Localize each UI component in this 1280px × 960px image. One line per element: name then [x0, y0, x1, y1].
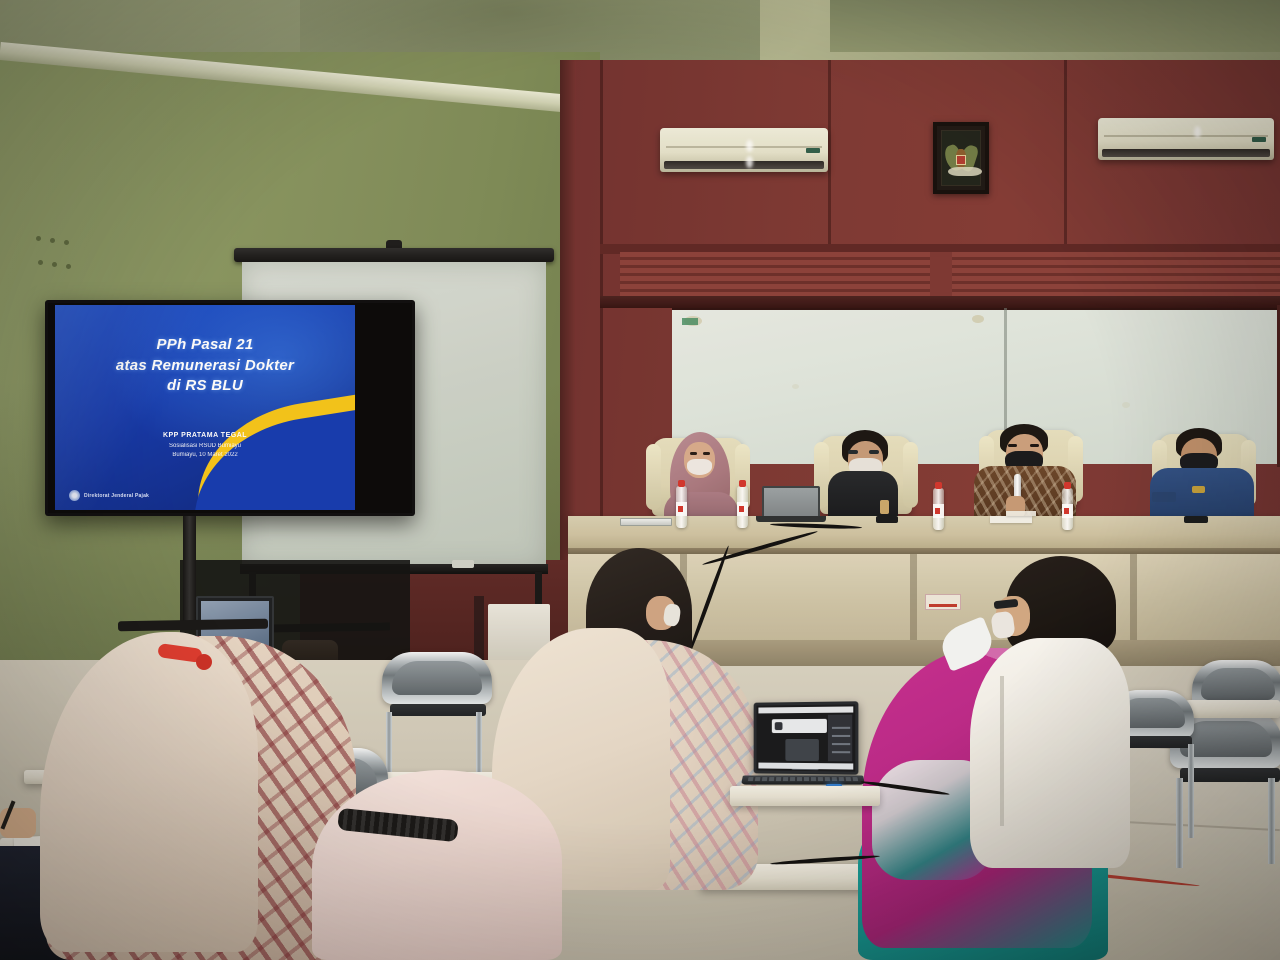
chair-leg [476, 712, 482, 778]
panelist-4-pocket [1152, 492, 1176, 502]
panelist-1-mask [687, 459, 712, 475]
writing-desk [1186, 700, 1280, 718]
ac-vent [664, 161, 824, 169]
seminar-room-photo: PPh Pasal 21 atas Remunerasi Dokter di R… [0, 0, 1280, 960]
attendee-4-mask [990, 611, 1015, 640]
tv-stand-pole [183, 516, 196, 624]
panelist-2-glasses [869, 450, 879, 454]
laptop-base [741, 775, 865, 784]
table-warning-sticker [925, 594, 961, 610]
panelist-1-eye [690, 452, 697, 455]
laptop-base [756, 516, 826, 522]
whiteboard-smudge [1122, 402, 1130, 408]
garuda-shield [956, 155, 966, 165]
ac-glint [746, 140, 753, 152]
mobile-phone-icon[interactable] [876, 516, 898, 523]
air-conditioner-icon [1098, 118, 1274, 160]
writing-desk [730, 786, 880, 806]
laptop-screen-row [832, 727, 850, 729]
attendee-4-white-shirt [970, 638, 1130, 868]
water-bottle-icon[interactable] [676, 486, 687, 528]
attendee-2-hijab [312, 770, 562, 960]
chair-leg [1268, 778, 1275, 864]
panelist-2-glasses [848, 450, 858, 454]
water-bottle-icon[interactable] [933, 488, 944, 530]
laptop-screen-topbar [758, 706, 853, 713]
laptop-icon[interactable] [762, 486, 820, 518]
projector-screen-case[interactable] [234, 248, 554, 262]
laptop-icon[interactable] [754, 701, 859, 774]
papers [990, 516, 1032, 523]
shirt-seam [1000, 676, 1004, 826]
laptop-screen-bottombar [758, 763, 853, 770]
chair-wing-right [903, 442, 918, 508]
garuda-ribbon [948, 167, 982, 176]
chair-back-inner [1201, 668, 1275, 700]
ac-vent [1102, 149, 1270, 157]
chair-seat [1180, 768, 1280, 782]
ac-glint [1194, 126, 1201, 138]
laptop-screen-row [832, 751, 850, 753]
chair-leg [1176, 778, 1183, 868]
mobile-phone-icon[interactable] [1184, 516, 1208, 523]
laptop-screen-sidepanel [828, 715, 852, 762]
water-bottle-icon[interactable] [737, 486, 748, 528]
folding-chair-icon[interactable] [382, 652, 492, 704]
chair-seat [390, 704, 486, 716]
air-conditioner-icon [660, 128, 828, 172]
whiteboard-smudge [792, 384, 799, 389]
frame-matte [941, 130, 981, 186]
ac-seam [666, 146, 822, 148]
projector-screen-latch[interactable] [452, 560, 474, 568]
small-bottle [880, 500, 889, 514]
ac-glint [746, 156, 753, 168]
laptop-screen-card [772, 719, 827, 733]
laptop-screen-row [832, 743, 850, 745]
ac-display-led [1252, 137, 1266, 142]
panelist-3-eye [1030, 444, 1039, 447]
panelist-3-eye [1008, 444, 1017, 447]
garuda-emblem-icon [933, 122, 989, 194]
laptop-screen-row [832, 735, 850, 737]
panelist-4-uniform-badge [1192, 486, 1205, 493]
tv-screen-glare [55, 305, 355, 510]
whiteboard-smudge [972, 315, 984, 323]
chair-back-inner [392, 661, 482, 695]
tray-ceiling-recess [830, 0, 1280, 52]
chair-leg [1188, 744, 1194, 838]
water-bottle-icon[interactable] [1062, 488, 1073, 530]
ac-seam [1104, 135, 1268, 137]
wood-slat-panel-divider [930, 252, 952, 298]
wall-screw-holes [36, 236, 96, 278]
whiteboard-brand-label [682, 318, 698, 325]
panelist-1-eye [703, 452, 710, 455]
chair-wing-left [646, 444, 661, 510]
storage-shadow [474, 596, 484, 664]
attendee-1-hair-clip-bead [196, 654, 212, 670]
slat-panel-trim-bottom [600, 296, 1280, 308]
nameplate [620, 518, 672, 526]
papers [1006, 511, 1036, 516]
laptop-keyboard[interactable] [748, 777, 858, 781]
head-table-top [568, 516, 1280, 550]
laptop-screen-thumbnail [785, 739, 819, 761]
ac-display-led [806, 148, 820, 153]
